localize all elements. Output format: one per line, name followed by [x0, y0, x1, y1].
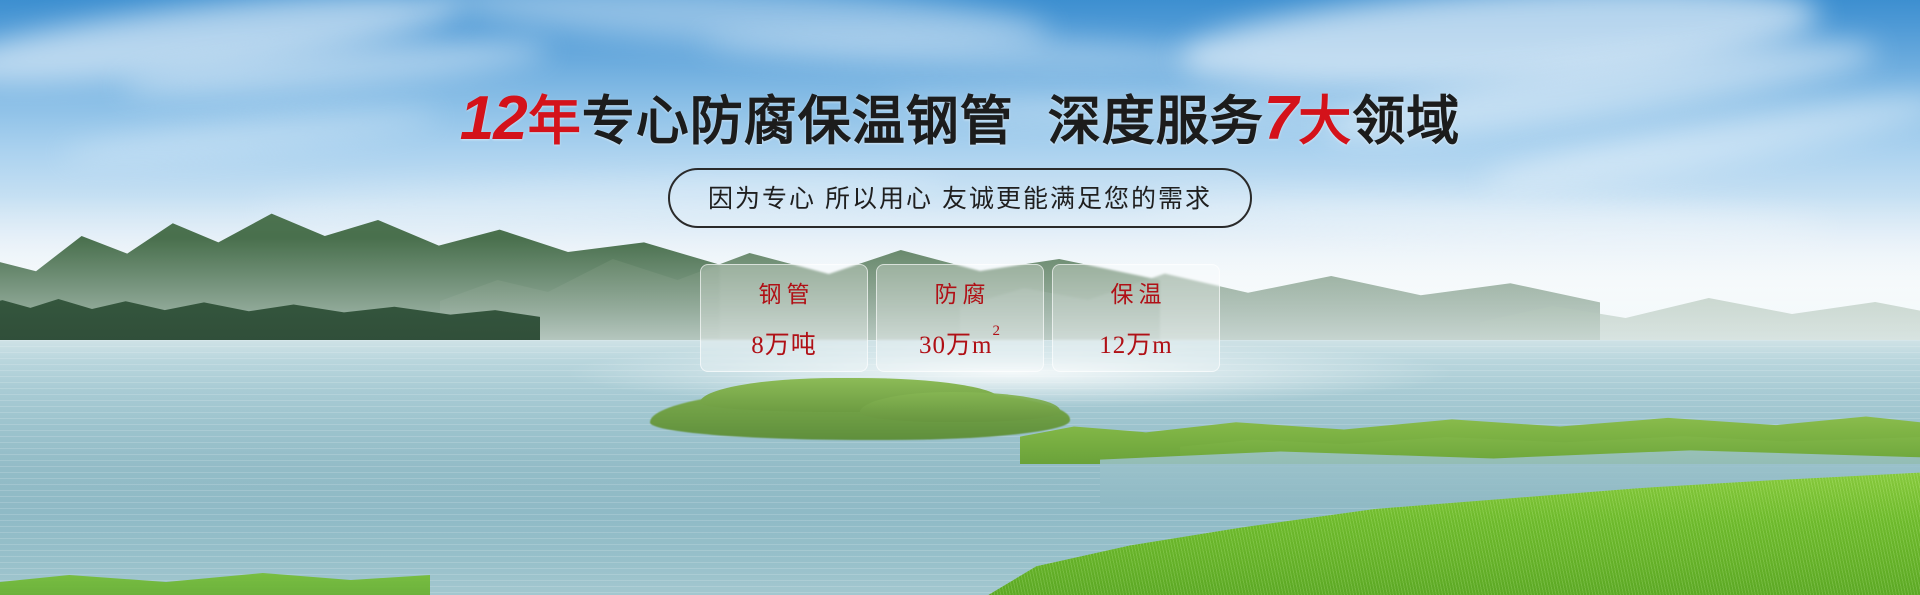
- headline-middle-text: 专心防腐保温钢管: [582, 92, 1014, 151]
- headline-years-unit: 年: [528, 92, 582, 151]
- stat-card-value-superscript: 2: [992, 323, 1001, 339]
- headline-service-text: 深度服务: [1048, 92, 1264, 151]
- stat-cards: 钢管 8万吨 防腐 30万m2 保温 12万m: [0, 264, 1920, 372]
- stat-card-value: 12万m: [1099, 325, 1172, 361]
- stat-card-value-text: 8万吨: [751, 332, 817, 359]
- headline: 12年专心防腐保温钢管深度服务7大领域: [0, 88, 1920, 150]
- stat-card-steel-pipe[interactable]: 钢管 8万吨: [700, 264, 868, 372]
- stat-card-value: 8万吨: [751, 325, 817, 361]
- banner-content: 12年专心防腐保温钢管深度服务7大领域 因为专心 所以用心 友诚更能满足您的需求…: [0, 0, 1920, 595]
- stat-card-label: 防腐: [930, 275, 991, 309]
- subtitle-container: 因为专心 所以用心 友诚更能满足您的需求: [0, 168, 1920, 228]
- stat-card-anticorrosion[interactable]: 防腐 30万m2: [876, 264, 1044, 372]
- stat-card-insulation[interactable]: 保温 12万m: [1052, 264, 1220, 372]
- subtitle-pill: 因为专心 所以用心 友诚更能满足您的需求: [668, 168, 1252, 228]
- headline-years-number: 12: [460, 84, 527, 153]
- headline-fields-big: 大: [1298, 92, 1352, 151]
- stat-card-label: 保温: [1106, 275, 1167, 309]
- stat-card-value-text: 12万m: [1099, 332, 1172, 359]
- headline-fields-number: 7: [1264, 84, 1297, 153]
- promo-banner: 12年专心防腐保温钢管深度服务7大领域 因为专心 所以用心 友诚更能满足您的需求…: [0, 0, 1920, 595]
- stat-card-value: 30万m2: [919, 325, 1001, 361]
- stat-card-value-text: 30万m: [919, 332, 992, 359]
- stat-card-label: 钢管: [754, 275, 815, 309]
- headline-fields-text: 领域: [1352, 92, 1460, 151]
